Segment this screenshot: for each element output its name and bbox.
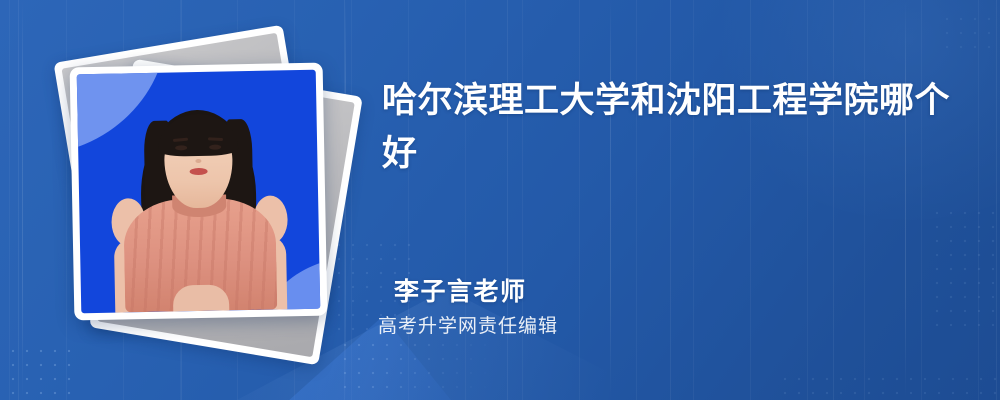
portrait-eye-left <box>175 145 187 150</box>
article-header-banner: 哈尔滨理工大学和沈阳工程学院哪个好 李子言老师 高考升学网责任编辑 <box>0 0 1000 400</box>
author-name: 李子言老师 <box>394 276 954 308</box>
portrait-illustration <box>77 70 321 314</box>
portrait-nose <box>195 158 201 162</box>
background-accent-line-4 <box>905 0 906 400</box>
dot-grid-top-right <box>940 12 1000 56</box>
portrait-eye-right <box>209 144 221 149</box>
page-title: 哈尔滨理工大学和沈阳工程学院哪个好 <box>382 74 960 180</box>
background-accent-line-1 <box>22 0 23 400</box>
dot-grid-bottom-right <box>778 372 998 400</box>
editor-photo-card <box>70 63 328 321</box>
banner-text-column: 哈尔滨理工大学和沈阳工程学院哪个好 <box>382 74 960 180</box>
author-role: 高考升学网责任编辑 <box>378 314 954 340</box>
portrait-hands <box>172 284 228 311</box>
photo-card-stack <box>46 30 376 370</box>
author-byline: 李子言老师 高考升学网责任编辑 <box>394 276 954 340</box>
editor-photo <box>77 70 321 314</box>
background-accent-line-3 <box>610 0 611 400</box>
